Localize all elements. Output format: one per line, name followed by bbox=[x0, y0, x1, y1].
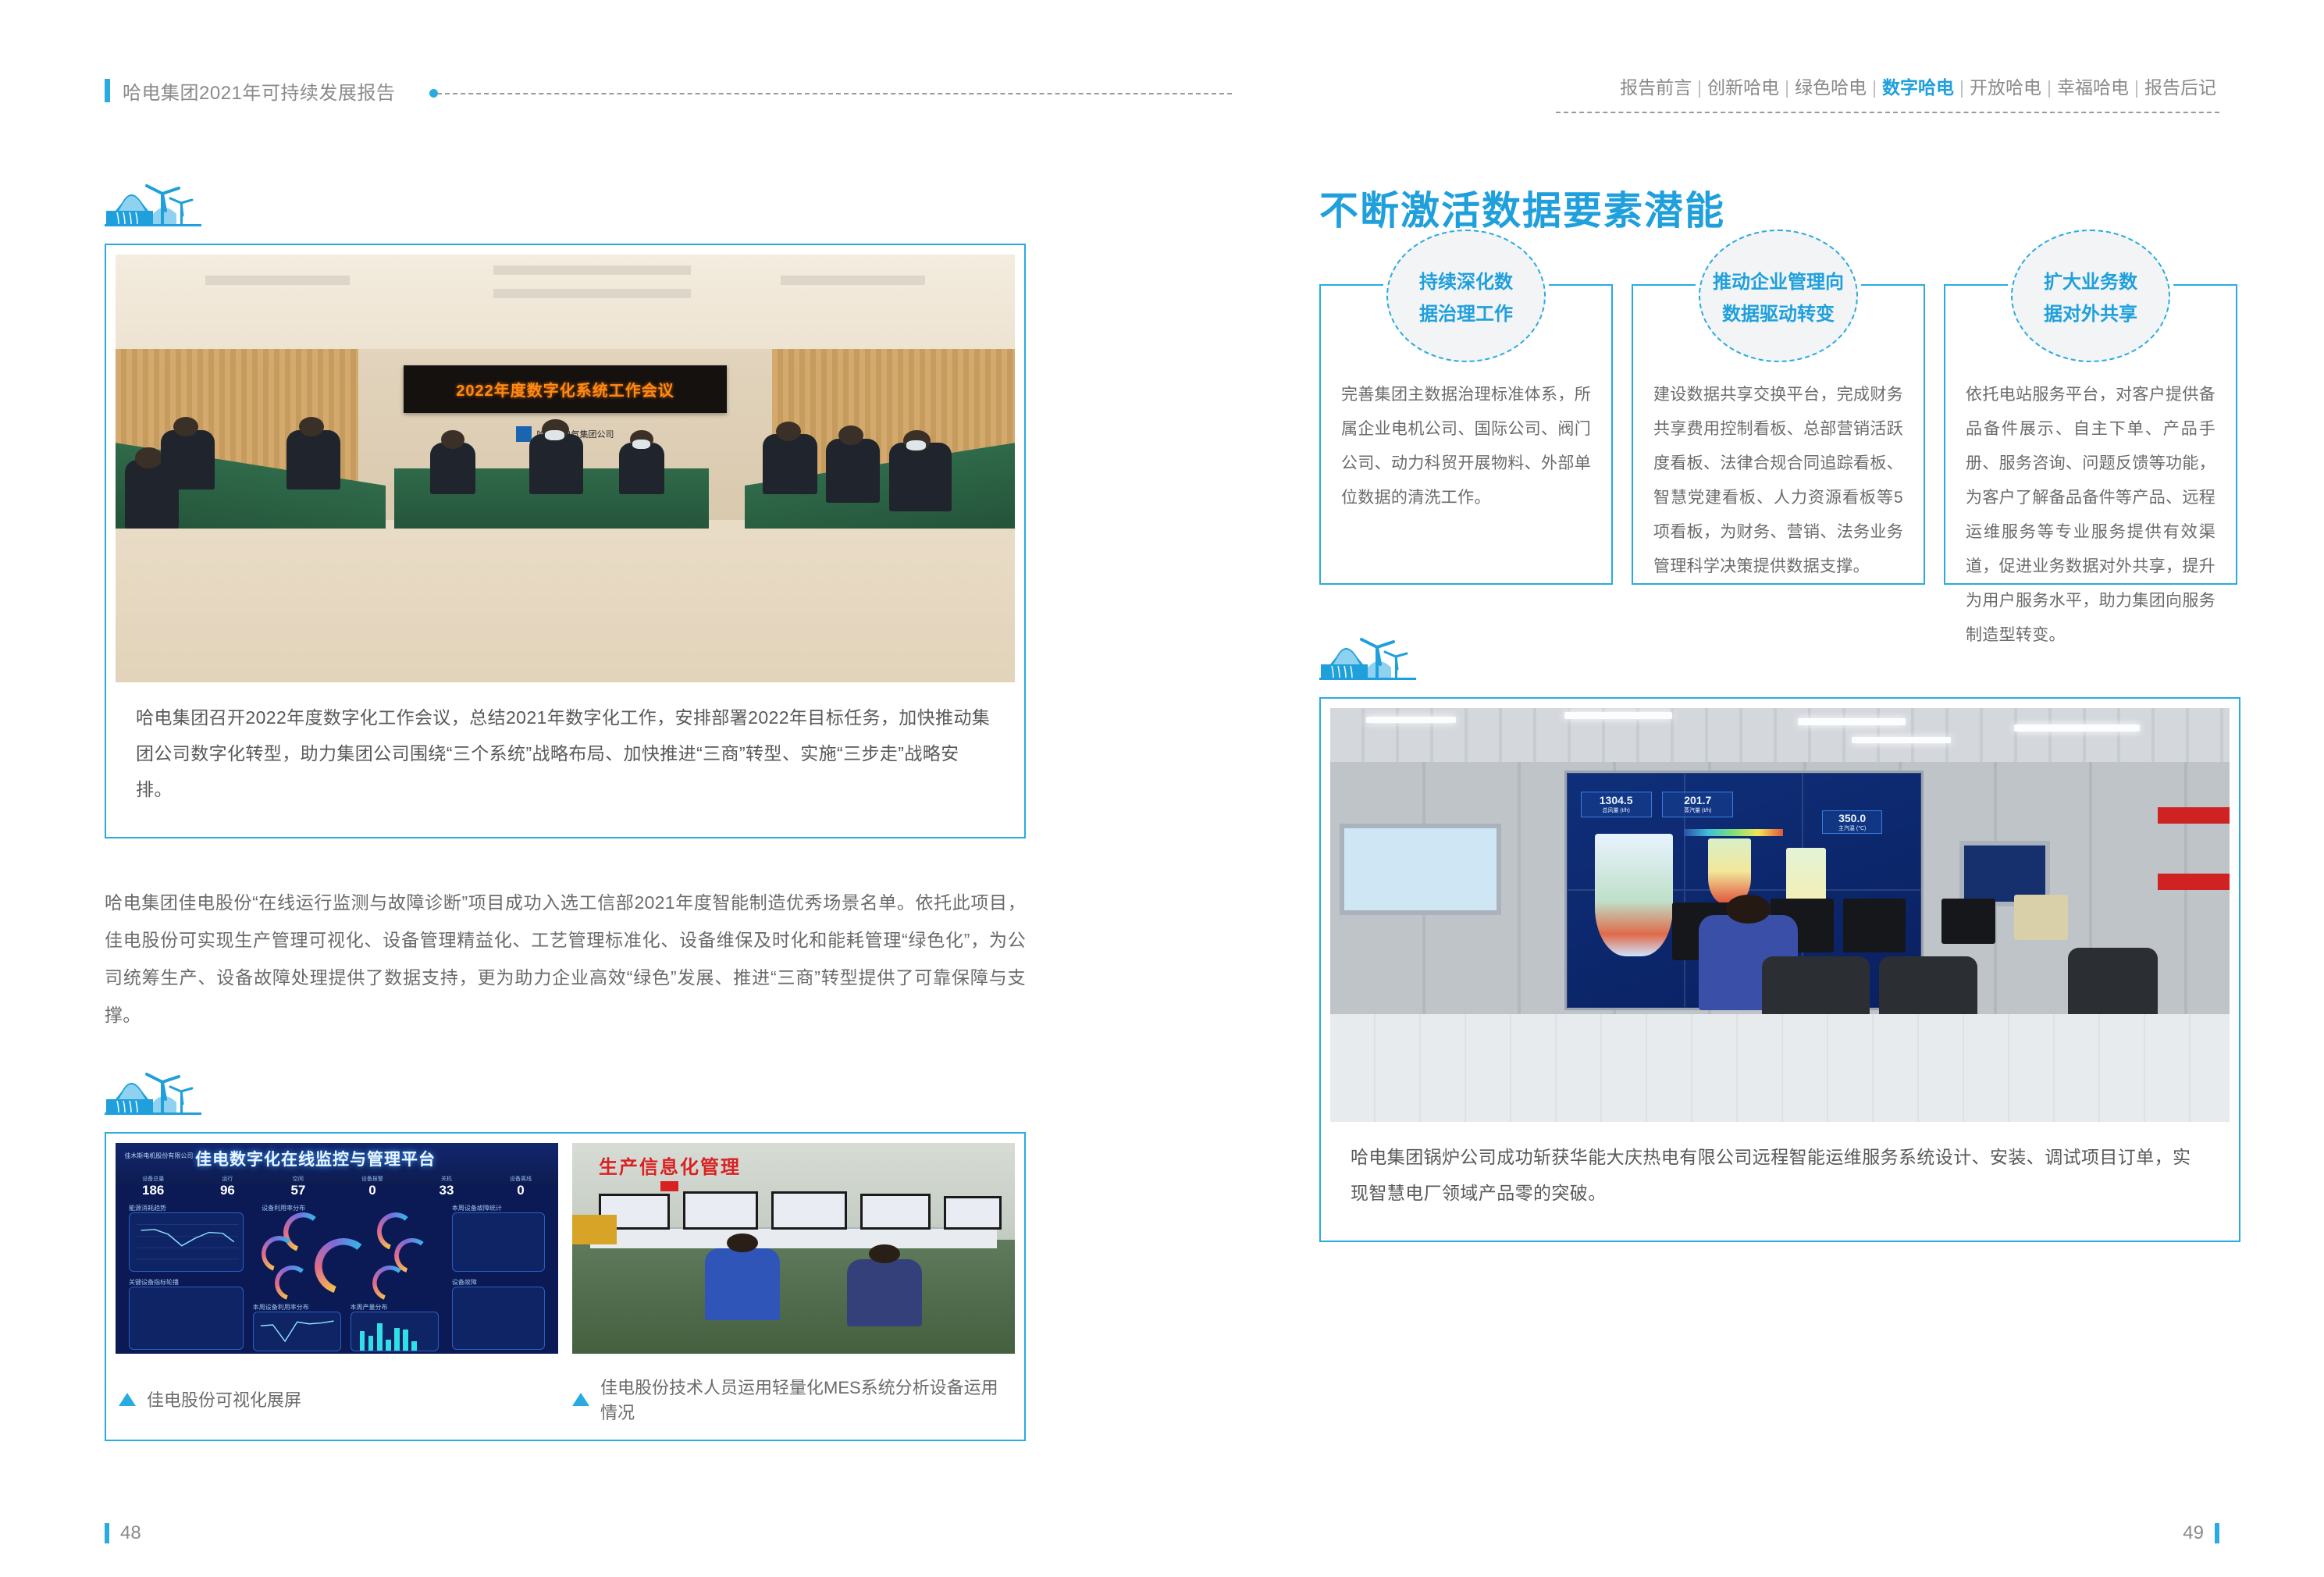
energy-trend-panel bbox=[129, 1212, 244, 1272]
attendee bbox=[619, 443, 664, 494]
panel-title-equipment-fault: 设备故障 bbox=[452, 1278, 477, 1287]
triangle-marker-icon bbox=[119, 1393, 136, 1406]
gauge-workshop-6 bbox=[372, 1266, 408, 1301]
attendee bbox=[826, 439, 880, 503]
equipment-fault-panel bbox=[452, 1287, 545, 1350]
dashboard-company-name: 佳木斯电机股份有限公司 bbox=[124, 1152, 193, 1160]
kpi-shutdown: 关机 33 bbox=[439, 1175, 454, 1198]
section-nav: 报告前言|创新哈电|绿色哈电|数字哈电|开放哈电|幸福哈电|报告后记 bbox=[1617, 75, 2219, 100]
red-banner bbox=[2158, 807, 2230, 824]
page-number-right: 49 bbox=[2183, 1522, 2204, 1544]
dam-windturbine-icon-right bbox=[1319, 633, 1416, 691]
kpi-label: 主汽温 (℃) bbox=[1838, 824, 1866, 832]
mes-workstation-photo: 生产信息化管理 bbox=[572, 1143, 1015, 1354]
weekly-fault-panel bbox=[452, 1212, 545, 1272]
card-title-line2: 据治理工作 bbox=[1419, 298, 1513, 326]
page-accent-bar bbox=[2215, 1523, 2219, 1543]
technician bbox=[847, 1259, 922, 1326]
panel-title-week-output: 本周产量分布 bbox=[351, 1303, 388, 1312]
card-title-ellipse: 扩大业务数 据对外共享 bbox=[2011, 230, 2170, 362]
kpi-idle: 空闲 57 bbox=[290, 1175, 305, 1198]
attendee bbox=[529, 434, 583, 494]
dual-photo-frame: 佳木斯电机股份有限公司 佳电数字化在线监控与管理平台 设备总量 186 运行 9… bbox=[105, 1132, 1026, 1441]
header-accent-bar bbox=[105, 79, 110, 102]
dashboard-kpi-row: 设备总量 186 运行 96 空闲 57 设备报警 bbox=[142, 1175, 532, 1198]
red-banner bbox=[2158, 874, 2230, 890]
attendee bbox=[161, 430, 215, 490]
boiler-thermal-map bbox=[1786, 848, 1825, 904]
meeting-caption: 哈电集团召开2022年度数字化工作会议，总结2021年数字化工作，安排部署202… bbox=[136, 700, 993, 807]
floor bbox=[116, 529, 1015, 682]
header-report-title: 哈电集团2021年可持续发展报告 bbox=[123, 77, 395, 105]
page-header: 哈电集团2021年可持续发展报告 报告前言|创新哈电|绿色哈电|数字哈电|开放哈… bbox=[0, 75, 2324, 122]
logo-mark-icon bbox=[516, 426, 532, 442]
kpi-value: 33 bbox=[439, 1183, 454, 1198]
nav-separator: | bbox=[1870, 77, 1879, 98]
attendee bbox=[763, 434, 817, 494]
output-bar bbox=[386, 1340, 391, 1351]
kpi-label: 总风量 (t/h) bbox=[1602, 806, 1629, 814]
body-paragraph: 哈电集团佳电股份“在线运行监测与故障诊断”项目成功入选工信部2021年度智能制造… bbox=[105, 884, 1026, 1034]
kpi-value: 186 bbox=[142, 1183, 164, 1198]
output-bar bbox=[403, 1330, 408, 1351]
desk-monitor bbox=[1843, 899, 1906, 952]
kpi-value: 1304.5 bbox=[1600, 794, 1633, 806]
mes-monitor bbox=[771, 1191, 846, 1230]
kpi-value: 0 bbox=[361, 1183, 383, 1198]
ceiling bbox=[1330, 708, 2230, 766]
ceiling-light bbox=[493, 289, 691, 298]
kpi-label: 关机 bbox=[439, 1175, 454, 1183]
nav-item-digital-active[interactable]: 数字哈电 bbox=[1879, 77, 1957, 98]
boiler-thermal-map bbox=[1595, 834, 1673, 956]
kpi-alarm: 设备报警 0 bbox=[361, 1175, 383, 1198]
kpi-label: 运行 bbox=[220, 1175, 235, 1183]
attendee bbox=[286, 430, 340, 490]
panel-title-utilization: 设备利用率分布 bbox=[262, 1204, 305, 1212]
kpi-offline: 设备离线 0 bbox=[510, 1175, 532, 1198]
dashboard-title: 佳电数字化在线监控与管理平台 bbox=[195, 1147, 436, 1170]
nav-item-green[interactable]: 绿色哈电 bbox=[1792, 77, 1870, 98]
meeting-room-photo: 2022年度数字化系统工作会议 哈尔滨电气集团公司 bbox=[116, 255, 1015, 682]
key-equipment-panel bbox=[129, 1287, 244, 1350]
panel-title-fault-stats: 本周设备故障统计 bbox=[452, 1204, 502, 1212]
nav-item-afterword[interactable]: 报告后记 bbox=[2141, 77, 2219, 98]
kpi-label: 设备报警 bbox=[361, 1175, 383, 1183]
card-title-line1: 推动企业管理向 bbox=[1713, 266, 1844, 294]
header-report-title-group: 哈电集团2021年可持续发展报告 bbox=[105, 75, 395, 106]
header-nav-group: 报告前言|创新哈电|绿色哈电|数字哈电|开放哈电|幸福哈电|报告后记 bbox=[1617, 75, 2219, 100]
attendee bbox=[889, 443, 952, 511]
side-display bbox=[1340, 824, 1501, 915]
kpi-label: 空闲 bbox=[290, 1175, 305, 1183]
kpi-total-equipment: 设备总量 186 bbox=[142, 1175, 164, 1198]
kpi-total-air: 1304.5 总风量 (t/h) bbox=[1581, 792, 1652, 817]
mes-monitor bbox=[683, 1191, 758, 1230]
console-desk bbox=[590, 1227, 998, 1248]
image-caption-row: 佳电股份可视化展屏 佳电股份技术人员运用轻量化MES系统分析设备运用情况 bbox=[116, 1374, 1015, 1430]
kpi-label: 设备总量 bbox=[142, 1175, 164, 1183]
right-page: 不断激活数据要素潜能 持续深化数 据治理工作 完善集团主数据治理标准体系，所属企… bbox=[1319, 180, 2240, 1242]
caption-dashboard-text: 佳电股份可视化展屏 bbox=[147, 1387, 301, 1411]
nav-item-happy[interactable]: 幸福哈电 bbox=[2054, 77, 2132, 98]
kpi-running: 运行 96 bbox=[220, 1175, 235, 1198]
technician bbox=[705, 1248, 780, 1320]
meeting-banner-text: 2022年度数字化系统工作会议 bbox=[456, 378, 674, 400]
kpi-value: 96 bbox=[220, 1183, 235, 1198]
ceiling-light bbox=[1798, 718, 1906, 724]
equipment-block bbox=[572, 1215, 617, 1244]
desk-monitor bbox=[2014, 895, 2068, 940]
technician-head bbox=[869, 1244, 900, 1263]
dual-photo-row: 佳木斯电机股份有限公司 佳电数字化在线监控与管理平台 设备总量 186 运行 9… bbox=[116, 1143, 1015, 1354]
flag-icon bbox=[660, 1181, 678, 1192]
card-title-ellipse: 持续深化数 据治理工作 bbox=[1386, 230, 1546, 362]
dam-windturbine-icon bbox=[105, 180, 201, 237]
nav-separator: | bbox=[1695, 77, 1704, 98]
attendee-head bbox=[776, 422, 801, 441]
triangle-marker-icon bbox=[572, 1393, 589, 1406]
kpi-main-steam-temp: 350.0 主汽温 (℃) bbox=[1822, 810, 1882, 834]
kpi-value: 350.0 bbox=[1838, 812, 1866, 824]
nav-separator: | bbox=[2132, 77, 2141, 98]
output-bar bbox=[394, 1328, 400, 1351]
face-mask bbox=[545, 430, 564, 440]
dam-windturbine-icon-secondary bbox=[105, 1068, 201, 1126]
page-accent-bar bbox=[105, 1523, 109, 1543]
panel-title-key-equipment: 关键设备指标轮播 bbox=[129, 1278, 179, 1287]
header-dashed-rule-right bbox=[1556, 112, 2219, 113]
face-mask bbox=[906, 440, 926, 450]
kpi-label: 设备离线 bbox=[510, 1175, 532, 1183]
mes-banner-text: 生产信息化管理 bbox=[599, 1152, 741, 1179]
card-title-line2: 数据驱动转变 bbox=[1722, 298, 1835, 326]
floor-tiles bbox=[1330, 1014, 2230, 1122]
meeting-banner: 2022年度数字化系统工作会议 bbox=[404, 365, 728, 412]
left-page: 2022年度数字化系统工作会议 哈尔滨电气集团公司 bbox=[105, 180, 1026, 1441]
gauge-workshop-3 bbox=[275, 1266, 310, 1301]
attendee-head bbox=[441, 430, 464, 450]
kpi-value: 201.7 bbox=[1684, 794, 1711, 806]
capability-cards: 持续深化数 据治理工作 完善集团主数据治理标准体系，所属企业电机公司、国际公司、… bbox=[1319, 284, 2240, 585]
report-spread: 哈电集团2021年可持续发展报告 报告前言|创新哈电|绿色哈电|数字哈电|开放哈… bbox=[0, 0, 2324, 1577]
footer-left: 48 bbox=[105, 1522, 141, 1544]
kpi-value: 0 bbox=[510, 1183, 532, 1198]
attendee bbox=[430, 443, 475, 494]
nav-item-open[interactable]: 开放哈电 bbox=[1966, 77, 2045, 98]
panel-title-energy: 能源消耗趋势 bbox=[129, 1204, 166, 1212]
ceiling-light bbox=[781, 276, 924, 285]
card-title-line1: 持续深化数 bbox=[1419, 266, 1513, 294]
card-data-driven-management: 推动企业管理向 数据驱动转变 建设数据共享交换平台，完成财务共享费用控制看板、总… bbox=[1632, 284, 1925, 585]
ceiling-light bbox=[1564, 712, 1672, 718]
meeting-photo-frame: 2022年度数字化系统工作会议 哈尔滨电气集团公司 bbox=[105, 244, 1026, 838]
nav-item-innovation[interactable]: 创新哈电 bbox=[1704, 77, 1782, 98]
control-room-frame: 1304.5 总风量 (t/h) 201.7 蒸汽量 (t/h) 350.0 主… bbox=[1319, 697, 2240, 1242]
color-scale-legend bbox=[1684, 829, 1783, 836]
kpi-label: 蒸汽量 (t/h) bbox=[1684, 806, 1711, 814]
body-paragraph-block: 哈电集团佳电股份“在线运行监测与故障诊断”项目成功入选工信部2021年度智能制造… bbox=[105, 884, 1026, 1034]
desk-monitor bbox=[1941, 899, 1995, 944]
operator-head bbox=[1726, 895, 1771, 924]
nav-separator: | bbox=[1957, 77, 1966, 98]
face-mask bbox=[632, 440, 650, 449]
output-bar bbox=[411, 1341, 417, 1351]
card-title-ellipse: 推动企业管理向 数据驱动转变 bbox=[1699, 230, 1858, 362]
ceiling-light bbox=[2014, 724, 2140, 731]
card-title-line2: 据对外共享 bbox=[2044, 298, 2137, 326]
kpi-value: 57 bbox=[290, 1183, 305, 1198]
page-number-left: 48 bbox=[120, 1522, 141, 1544]
visualization-dashboard-photo: 佳木斯电机股份有限公司 佳电数字化在线监控与管理平台 设备总量 186 运行 9… bbox=[116, 1143, 558, 1354]
mes-monitor bbox=[860, 1194, 931, 1230]
mes-monitor bbox=[944, 1196, 1002, 1230]
ceiling-light bbox=[1366, 717, 1456, 723]
nav-item-preface[interactable]: 报告前言 bbox=[1617, 77, 1695, 98]
attendee-head bbox=[135, 447, 162, 468]
control-room-caption-block: 哈电集团锅炉公司成功斩获华能大庆热电有限公司远程智能运维服务系统设计、安装、调试… bbox=[1330, 1122, 2230, 1231]
card-title-line1: 扩大业务数 bbox=[2044, 266, 2137, 294]
caption-mes: 佳电股份技术人员运用轻量化MES系统分析设备运用情况 bbox=[572, 1374, 1012, 1424]
page-title: 不断激活数据要素潜能 bbox=[1319, 180, 2240, 236]
caption-mes-text: 佳电股份技术人员运用轻量化MES系统分析设备运用情况 bbox=[600, 1374, 1012, 1424]
output-bar bbox=[377, 1323, 383, 1351]
caption-dashboard: 佳电股份可视化展屏 bbox=[119, 1374, 558, 1424]
ceiling-light bbox=[493, 265, 691, 275]
output-bar bbox=[360, 1331, 365, 1351]
panel-title-week-utilization: 本周设备利用率分布 bbox=[253, 1303, 309, 1312]
nav-separator: | bbox=[2045, 77, 2054, 98]
ceiling-light bbox=[205, 276, 349, 285]
meeting-caption-block: 哈电集团召开2022年度数字化工作会议，总结2021年数字化工作，安排部署202… bbox=[116, 682, 1015, 828]
header-dashed-rule-left bbox=[437, 93, 1232, 94]
control-room-photo: 1304.5 总风量 (t/h) 201.7 蒸汽量 (t/h) 350.0 主… bbox=[1330, 708, 2230, 1122]
week-output-panel bbox=[351, 1312, 439, 1351]
week-utilization-panel bbox=[253, 1312, 341, 1351]
control-room-caption: 哈电集团锅炉公司成功斩获华能大庆热电有限公司远程智能运维服务系统设计、安装、调试… bbox=[1351, 1139, 2208, 1211]
card-external-data-sharing: 扩大业务数 据对外共享 依托电站服务平台，对客户提供备品备件展示、自主下单、产品… bbox=[1944, 284, 2237, 585]
kpi-steam: 201.7 蒸汽量 (t/h) bbox=[1662, 792, 1733, 817]
ceiling-light bbox=[1852, 737, 1951, 742]
nav-separator: | bbox=[1782, 77, 1792, 98]
gauge-overall-utilization bbox=[315, 1238, 372, 1295]
workshop-floor bbox=[572, 1240, 1015, 1354]
output-bar bbox=[368, 1336, 374, 1351]
card-data-governance: 持续深化数 据治理工作 完善集团主数据治理标准体系，所属企业电机公司、国际公司、… bbox=[1319, 284, 1613, 585]
footer-right: 49 bbox=[2183, 1522, 2219, 1544]
